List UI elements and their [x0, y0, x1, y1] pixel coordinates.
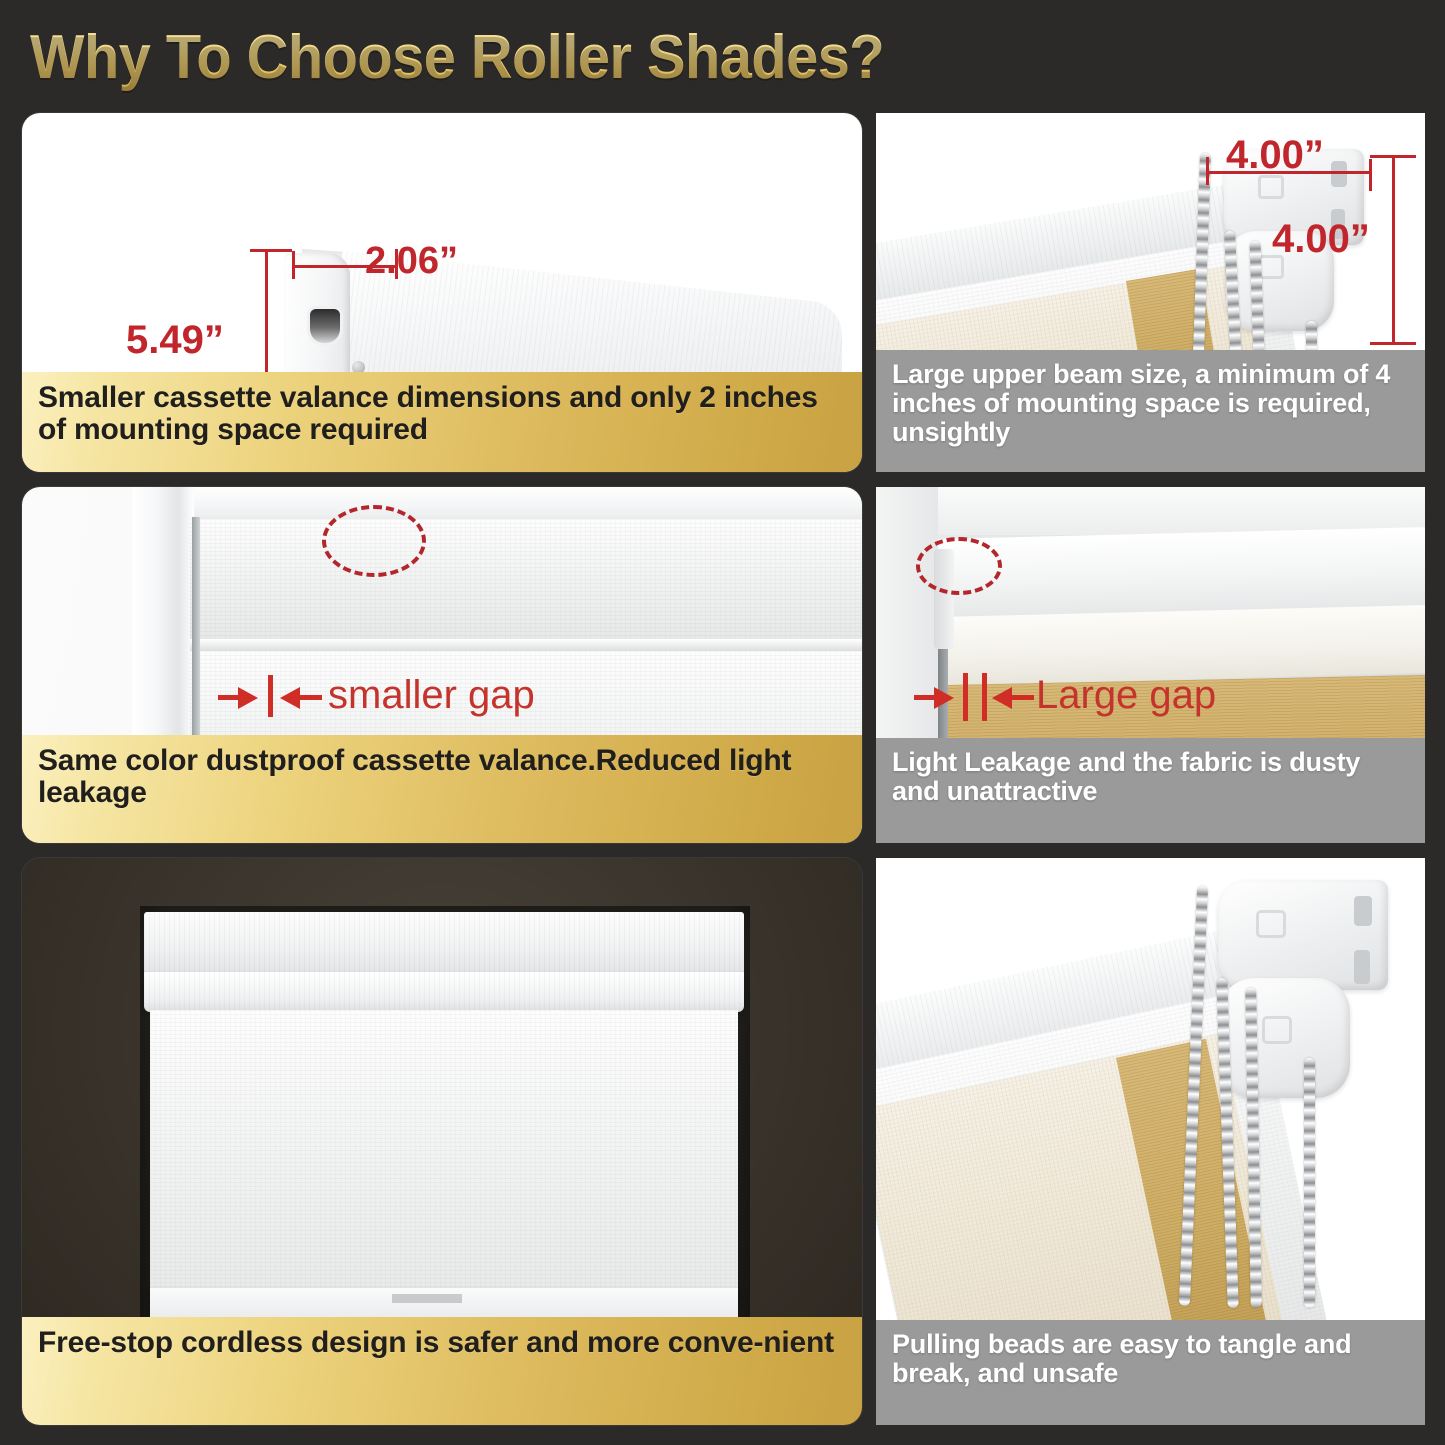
gap-arrow-left-icon	[280, 687, 300, 709]
gap-marker-bar-2	[982, 673, 987, 721]
panel-light-leakage: Large gap Light Leakage and the fabric i…	[876, 487, 1425, 843]
panel-5-caption: Free-stop cordless design is safer and m…	[22, 1317, 862, 1425]
panel-6-caption: Pulling beads are easy to tangle and bre…	[876, 1320, 1425, 1425]
beam-height-dimension-label: 4.00”	[1272, 217, 1370, 262]
cassette-valance	[190, 519, 862, 639]
panel-large-upper-beam: 4.00” 4.00” Large upper beam size, a min…	[876, 113, 1425, 472]
beam-height-tick-bottom	[1370, 342, 1416, 345]
window-frame-top	[132, 487, 862, 523]
panel-free-stop-cordless: Free-stop cordless design is safer and m…	[22, 858, 862, 1425]
gap-callout-label: smaller gap	[328, 673, 535, 718]
bracket-slot-upper-icon	[1331, 161, 1347, 187]
height-dimension-tick-top	[250, 249, 292, 252]
beam-width-tick-left	[1206, 157, 1209, 185]
gap-callout-label: Large gap	[1036, 673, 1216, 718]
bracket-emboss-upper-icon	[1256, 910, 1286, 938]
beam-width-tick-right	[1369, 159, 1372, 191]
gap-arrow-right-icon	[238, 687, 258, 709]
gap-arrow-left-stem	[914, 695, 936, 700]
beam-width-dimension-label: 4.00”	[1226, 133, 1324, 178]
comparison-grid: 5.49” 2.06” Smaller cassette valance dim…	[0, 0, 1445, 1445]
gap-marker-bar-1	[963, 673, 968, 721]
bracket-slot-upper-icon	[1354, 896, 1372, 926]
headrail-lip	[144, 972, 744, 1012]
cassette-valance-lip	[190, 639, 862, 651]
ceiling-surface	[876, 487, 1425, 535]
gap-marker-bar	[268, 675, 273, 717]
panel-3-caption: Same color dustproof cassette valance.Re…	[22, 735, 862, 843]
bracket-emboss-lower-icon	[1262, 1016, 1292, 1044]
height-dimension-label: 5.49”	[126, 318, 224, 363]
panel-2-caption: Large upper beam size, a minimum of 4 in…	[876, 350, 1425, 472]
beam-height-tick-top	[1370, 155, 1416, 158]
bracket-emboss-upper-icon	[1258, 175, 1284, 199]
gap-arrow-right-stem	[300, 695, 322, 700]
panel-dustproof-cassette: smaller gap Same color dustproof cassett…	[22, 487, 862, 843]
roller-shade-fabric	[150, 1010, 738, 1310]
panel-1-caption: Smaller cassette valance dimensions and …	[22, 372, 862, 472]
bracket-slot-lower-icon	[1354, 950, 1370, 984]
bead-chain-4	[1304, 1058, 1315, 1308]
gap-arrow-left-icon	[992, 687, 1012, 709]
panel-smaller-cassette: 5.49” 2.06” Smaller cassette valance dim…	[22, 113, 862, 472]
gap-arrow-right-stem	[1012, 695, 1034, 700]
valance-slot	[310, 309, 340, 343]
brand-logo	[392, 1294, 462, 1303]
gap-arrow-left-stem	[218, 695, 240, 700]
gap-highlight-ellipse	[322, 505, 426, 577]
width-dimension-tick-left	[292, 251, 295, 279]
leak-highlight-ellipse	[916, 537, 1002, 595]
panel-4-caption: Light Leakage and the fabric is dusty an…	[876, 738, 1425, 843]
gap-arrow-right-icon	[934, 687, 954, 709]
beam-height-dimension-line	[1392, 155, 1395, 345]
panel-pulling-beads: Pulling beads are easy to tangle and bre…	[876, 858, 1425, 1425]
shade-bottom-bar	[150, 1288, 738, 1320]
cassette-headrail	[144, 912, 744, 974]
width-dimension-label: 2.06”	[365, 240, 458, 283]
